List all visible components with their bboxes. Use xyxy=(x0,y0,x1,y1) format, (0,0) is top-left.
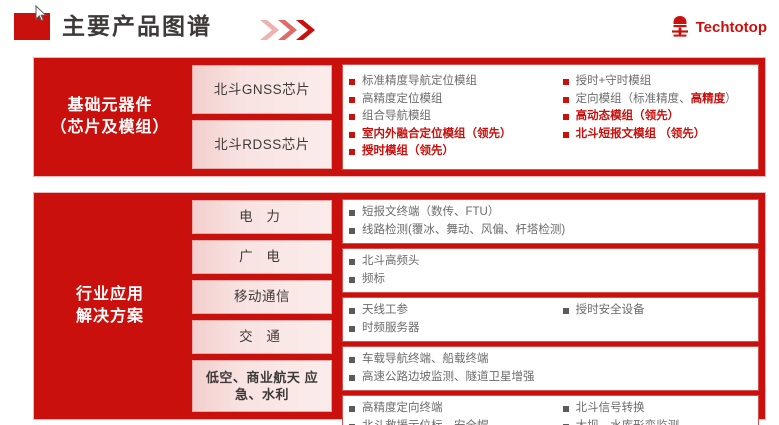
bullet-icon xyxy=(349,308,355,314)
panel-basic-modules: 标准精度导航定位模组 高精度定位模组 组合导航模组 室内外融合定位模组（领先） … xyxy=(342,64,759,170)
list-item: 授时模组（领先） xyxy=(349,143,563,161)
bullet-icon xyxy=(349,406,355,412)
section-label-basic-components: 基础元器件 （芯片及模组） xyxy=(34,58,186,176)
list-item: 大坝、水库形变监测 xyxy=(563,418,752,425)
list-item: 北斗高频头 xyxy=(349,253,563,271)
module-list-right: 授时+守时模组 定向模组（标准精度、高精度） 高动态模组（领先） 北斗短报文模组… xyxy=(563,73,752,143)
list-item: 北斗短报文模组 （领先） xyxy=(563,126,752,144)
list-item: 高动态模组（领先） xyxy=(563,108,752,126)
bullet-icon xyxy=(349,132,355,138)
list-item: 天线工参 xyxy=(349,302,563,320)
chip-beidou-gnss[interactable]: 北斗GNSS芯片 xyxy=(192,65,332,114)
slide-canvas: 主要产品图谱 Techtotop 基础元器件 （芯片及模组） xyxy=(0,0,779,425)
list-item: 室内外融合定位模组（领先） xyxy=(349,126,563,144)
chip-column-industry: 电 力 广 电 移动通信 交 通 低空、商业航天 应急、水利 xyxy=(186,193,338,419)
section-label-line-2: 解决方案 xyxy=(76,306,144,328)
bullet-icon xyxy=(349,326,355,332)
list-item: 授时+守时模组 xyxy=(563,73,752,91)
bullet-icon xyxy=(349,114,355,120)
list-item: 授时安全设备 xyxy=(563,302,752,320)
lowaltitude-list-left: 高精度定向终端 北斗救援示位标、安全帽 xyxy=(349,400,563,425)
mouse-pointer-icon xyxy=(35,5,47,23)
section-label-line-1: 基础元器件 xyxy=(50,95,169,117)
bullet-icon xyxy=(563,114,569,120)
bullet-icon xyxy=(349,375,355,381)
bullet-icon xyxy=(349,210,355,216)
bullet-icon xyxy=(563,308,569,314)
chip-broadcasting[interactable]: 广 电 xyxy=(192,240,332,274)
chip-lowaltitude-aerospace-emergency-water[interactable]: 低空、商业航天 应急、水利 xyxy=(192,360,332,412)
bullet-icon xyxy=(563,97,569,103)
bullet-icon xyxy=(349,79,355,85)
panel-power: 短报文终端（数传、FTU） 线路检测(覆冰、舞动、风偏、杆塔检测) xyxy=(342,199,759,244)
content-column-basic: 标准精度导航定位模组 高精度定位模组 组合导航模组 室内外融合定位模组（领先） … xyxy=(338,58,765,176)
bullet-icon xyxy=(349,259,355,265)
chip-column-basic: 北斗GNSS芯片 北斗RDSS芯片 xyxy=(186,58,338,176)
list-item: 北斗救援示位标、安全帽 xyxy=(349,418,563,425)
mobile-list-left: 天线工参 时频服务器 xyxy=(349,302,563,337)
bullet-icon xyxy=(349,357,355,363)
content-column-industry: 短报文终端（数传、FTU） 线路检测(覆冰、舞动、风偏、杆塔检测) 北斗高频头 … xyxy=(338,193,765,419)
mobile-list-right: 授时安全设备 xyxy=(563,302,752,320)
section-label-industry-solutions: 行业应用 解决方案 xyxy=(34,193,186,419)
bullet-icon xyxy=(563,406,569,412)
section-industry-solutions: 行业应用 解决方案 电 力 广 电 移动通信 交 通 低空、商业航天 应急、水利… xyxy=(33,192,766,420)
panel-mobile-communication: 天线工参 时频服务器 授时安全设备 xyxy=(342,297,759,342)
bullet-icon xyxy=(563,132,569,138)
bullet-icon xyxy=(349,149,355,155)
section-basic-components: 基础元器件 （芯片及模组） 北斗GNSS芯片 北斗RDSS芯片 标准精度导航定位… xyxy=(33,57,766,177)
section-label-line-1: 行业应用 xyxy=(76,284,144,306)
list-item: 短报文终端（数传、FTU） xyxy=(349,204,565,222)
list-item: 高精度定位模组 xyxy=(349,91,563,109)
list-item: 定向模组（标准精度、高精度） xyxy=(563,91,752,109)
lowaltitude-list-right: 北斗信号转换 大坝、水库形变监测 xyxy=(563,400,752,425)
power-list-left: 短报文终端（数传、FTU） 线路检测(覆冰、舞动、风偏、杆塔检测) xyxy=(349,204,565,239)
list-item: 高精度定向终端 xyxy=(349,400,563,418)
list-item: 线路检测(覆冰、舞动、风偏、杆塔检测) xyxy=(349,222,565,240)
list-item: 标准精度导航定位模组 xyxy=(349,73,563,91)
list-item: 北斗信号转换 xyxy=(563,400,752,418)
chip-beidou-rdss[interactable]: 北斗RDSS芯片 xyxy=(192,120,332,169)
page-title: 主要产品图谱 xyxy=(62,10,212,42)
chip-label-line-1: 低空、商业航天 xyxy=(206,370,301,385)
panel-transportation: 车载导航终端、船载终端 高速公路边坡监测、隧道卫星增强 xyxy=(342,346,759,391)
brand-name: Techtotop xyxy=(696,19,767,36)
chip-transportation[interactable]: 交 通 xyxy=(192,320,332,354)
panel-broadcasting: 北斗高频头 频标 xyxy=(342,248,759,293)
list-item: 车载导航终端、船载终端 xyxy=(349,351,563,369)
bullet-icon xyxy=(349,277,355,283)
list-item: 时频服务器 xyxy=(349,320,563,338)
section-label-line-2: （芯片及模组） xyxy=(50,117,169,139)
brand-logo: Techtotop xyxy=(668,14,767,40)
bullet-icon xyxy=(349,97,355,103)
panel-lowaltitude-aerospace-emergency-water: 高精度定向终端 北斗救援示位标、安全帽 北斗信号转换 大坝、水库形变监测 xyxy=(342,395,759,425)
bullet-icon xyxy=(349,228,355,234)
bullet-icon xyxy=(563,79,569,85)
slide-header: 主要产品图谱 Techtotop xyxy=(0,0,779,50)
chip-mobile-communication[interactable]: 移动通信 xyxy=(192,280,332,314)
transportation-list-left: 车载导航终端、船载终端 高速公路边坡监测、隧道卫星增强 xyxy=(349,351,563,386)
triple-chevron-right-icon xyxy=(258,16,322,44)
list-item: 高速公路边坡监测、隧道卫星增强 xyxy=(349,369,563,387)
list-item: 组合导航模组 xyxy=(349,108,563,126)
techtotop-logo-icon xyxy=(668,15,692,39)
chip-power[interactable]: 电 力 xyxy=(192,200,332,234)
broadcasting-list-left: 北斗高频头 频标 xyxy=(349,253,563,288)
emphasis-text: 高精度 xyxy=(691,93,726,105)
module-list-left: 标准精度导航定位模组 高精度定位模组 组合导航模组 室内外融合定位模组（领先） … xyxy=(349,73,563,161)
list-item: 频标 xyxy=(349,271,563,289)
